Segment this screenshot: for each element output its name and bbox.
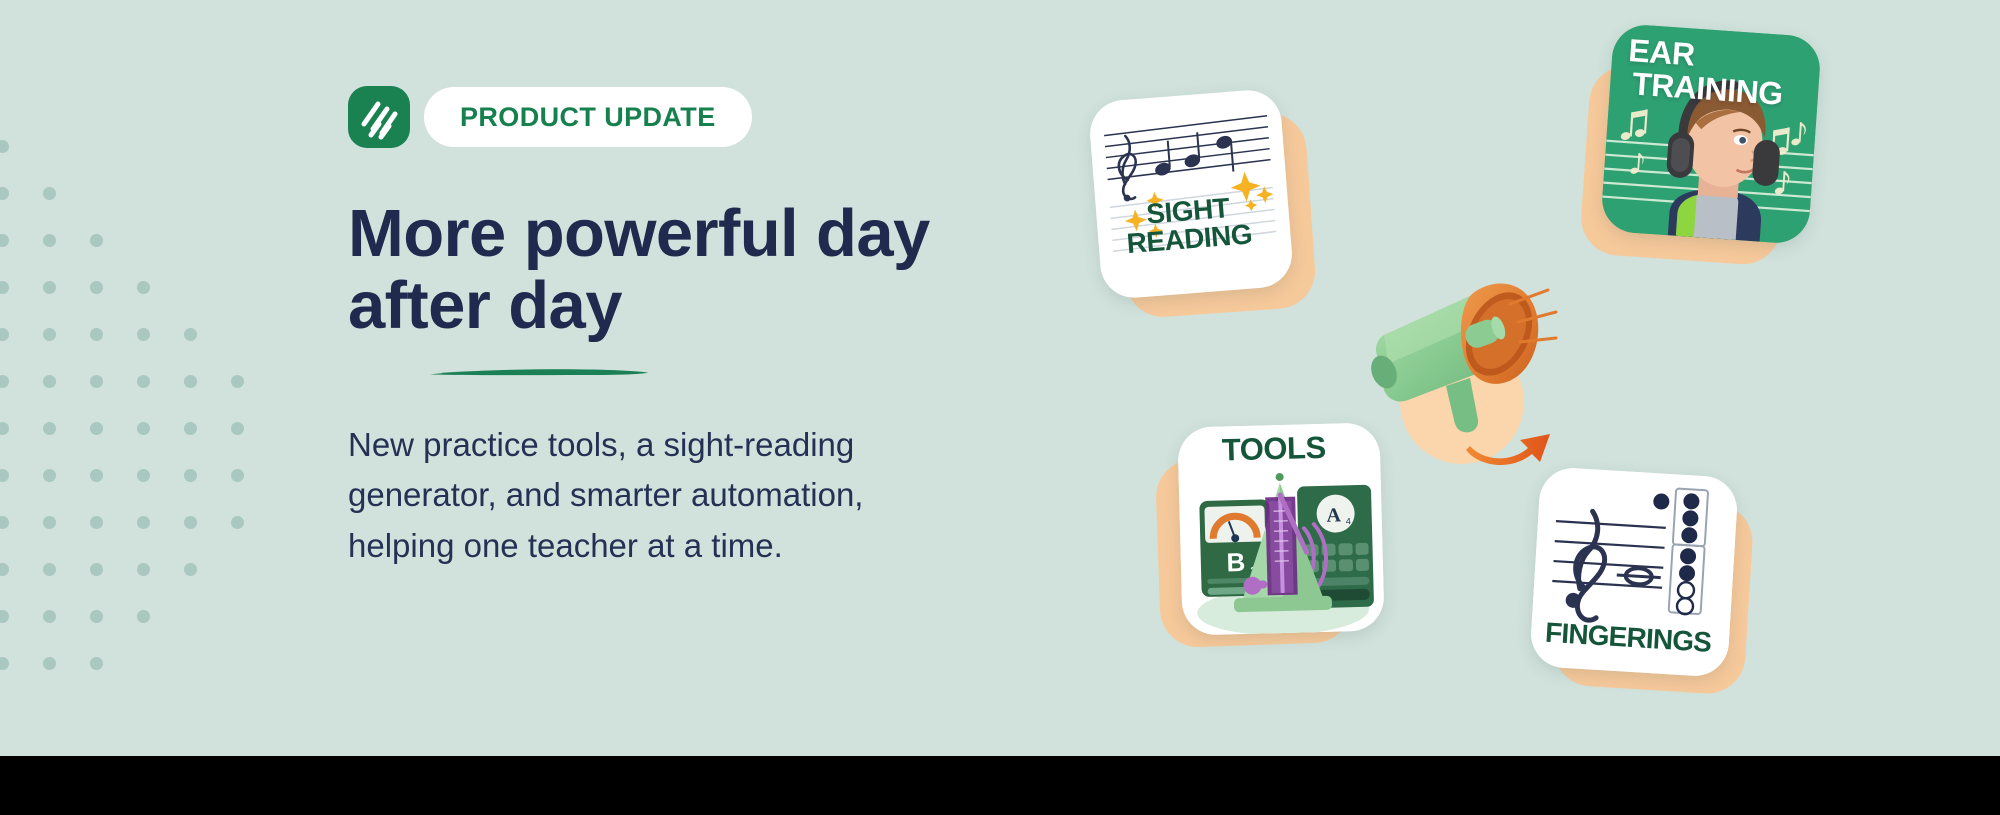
decorative-dot <box>0 328 9 341</box>
decorative-dot <box>43 610 56 623</box>
decorative-dot <box>137 281 150 294</box>
decorative-dot <box>43 281 56 294</box>
decorative-dot <box>90 563 103 576</box>
decorative-dot <box>90 375 103 388</box>
product-update-badge: PRODUCT UPDATE <box>424 87 752 147</box>
headline-line-2: after day <box>348 268 622 343</box>
svg-text:A: A <box>1326 504 1342 526</box>
card-fingerings[interactable]: FINGERINGS <box>1535 470 1765 705</box>
caption-line-1: TOOLS <box>1221 430 1326 469</box>
decorative-dot <box>0 657 9 670</box>
subcopy-line-1: New practice tools, a sight-reading <box>348 426 854 463</box>
decorative-dot <box>0 281 9 294</box>
brand-logo-icon <box>348 86 410 148</box>
decorative-dot <box>43 234 56 247</box>
decorative-dot <box>43 328 56 341</box>
decorative-dot <box>137 328 150 341</box>
decorative-dot <box>137 563 150 576</box>
decorative-dot <box>231 469 244 482</box>
card-caption-sight-reading: SIGHT READING <box>1145 192 1253 256</box>
decorative-dot <box>90 516 103 529</box>
decorative-dot <box>90 610 103 623</box>
decorative-dot <box>43 469 56 482</box>
decorative-dot <box>0 234 9 247</box>
feature-card-cluster: SIGHT READING <box>1080 0 2000 756</box>
decorative-dot <box>43 375 56 388</box>
card-face: SIGHT READING <box>1088 88 1295 300</box>
decorative-dot <box>184 328 197 341</box>
decorative-dot <box>184 422 197 435</box>
hero-subcopy: New practice tools, a sight-readinggener… <box>348 420 1048 571</box>
decorative-dot <box>43 657 56 670</box>
svg-text:B: B <box>1226 547 1246 577</box>
decorative-dot <box>90 469 103 482</box>
decorative-dot-grid <box>0 140 270 660</box>
product-update-badge-label: PRODUCT UPDATE <box>460 102 716 133</box>
decorative-dot <box>0 422 9 435</box>
decorative-dot <box>137 375 150 388</box>
decorative-dot <box>137 610 150 623</box>
subcopy-line-2: generator, and smarter automation, <box>348 476 863 513</box>
decorative-dot <box>90 657 103 670</box>
decorative-dot <box>0 187 9 200</box>
decorative-dot <box>0 610 9 623</box>
product-update-banner: PRODUCT UPDATE More powerful dayafter da… <box>0 0 2000 756</box>
decorative-dot <box>90 328 103 341</box>
svg-text:4: 4 <box>1346 516 1351 526</box>
decorative-dot <box>90 422 103 435</box>
subcopy-line-3: helping one teacher at a time. <box>348 527 783 564</box>
badge-row: PRODUCT UPDATE <box>348 86 752 148</box>
bottom-black-band <box>0 756 2000 815</box>
decorative-dot <box>0 516 9 529</box>
card-caption-tools: TOOLS <box>1221 430 1326 469</box>
card-sight-reading[interactable]: SIGHT READING <box>1095 95 1305 310</box>
decorative-dot <box>137 516 150 529</box>
decorative-dot <box>0 375 9 388</box>
decorative-dot <box>184 469 197 482</box>
card-ear-training[interactable]: EAR TRAINING <box>1585 22 1820 252</box>
decorative-dot <box>43 563 56 576</box>
headline-line-1: More powerful day <box>348 196 930 271</box>
decorative-dot <box>137 422 150 435</box>
decorative-dot <box>231 375 244 388</box>
card-caption-ear-training: EAR TRAINING <box>1625 34 1786 110</box>
hero-text-column: PRODUCT UPDATE More powerful dayafter da… <box>348 0 1048 756</box>
decorative-dot <box>43 187 56 200</box>
decorative-dot <box>0 469 9 482</box>
decorative-dot <box>90 234 103 247</box>
megaphone-illustration <box>1342 250 1592 500</box>
decorative-dot <box>184 375 197 388</box>
decorative-dot <box>231 516 244 529</box>
decorative-dot <box>43 422 56 435</box>
decorative-dot <box>231 422 244 435</box>
decorative-dot <box>90 281 103 294</box>
card-face: EAR TRAINING <box>1600 23 1822 245</box>
decorative-dot <box>184 516 197 529</box>
decorative-dot <box>184 563 197 576</box>
decorative-dot <box>0 563 9 576</box>
decorative-dot <box>0 140 9 153</box>
page-title: More powerful dayafter day <box>348 198 1048 341</box>
decorative-dot <box>137 469 150 482</box>
decorative-dot <box>43 516 56 529</box>
headline-underline-brushstroke <box>428 365 650 377</box>
